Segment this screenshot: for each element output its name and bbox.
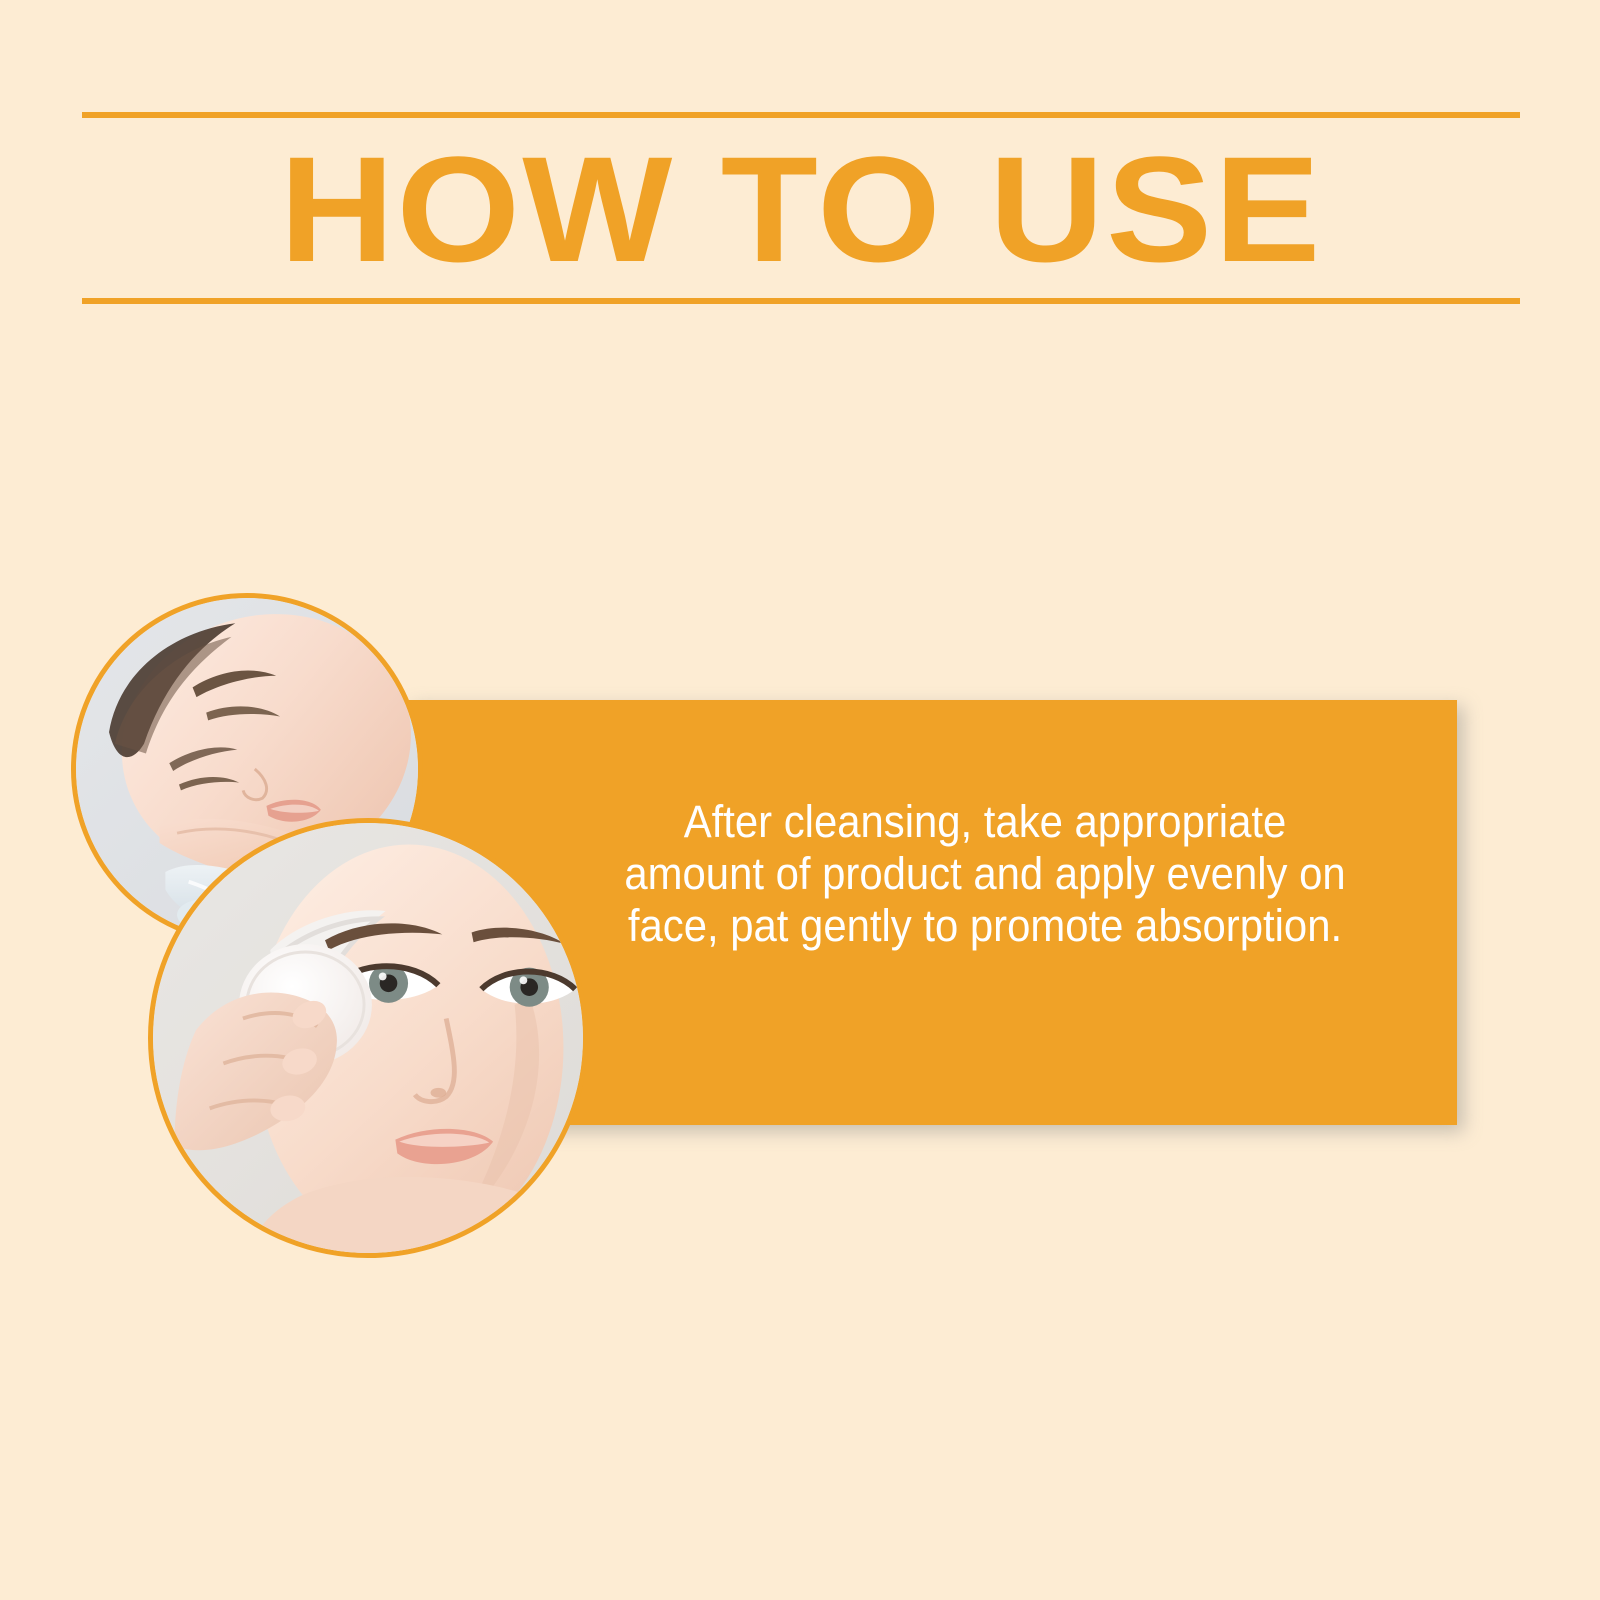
cotton-pad-illustration [153, 823, 583, 1253]
photo-cotton-pad-image [153, 823, 583, 1253]
page-title: HOW TO USE [39, 120, 1563, 298]
header-rule-top [82, 112, 1520, 118]
header-rule-bottom [82, 298, 1520, 304]
header: HOW TO USE [82, 112, 1520, 304]
how-to-use-infographic: HOW TO USE After cleansing, take appropr… [0, 0, 1600, 1600]
instruction-text: After cleansing, take appropriate amount… [613, 796, 1357, 952]
photo-cotton-pad [148, 818, 588, 1258]
